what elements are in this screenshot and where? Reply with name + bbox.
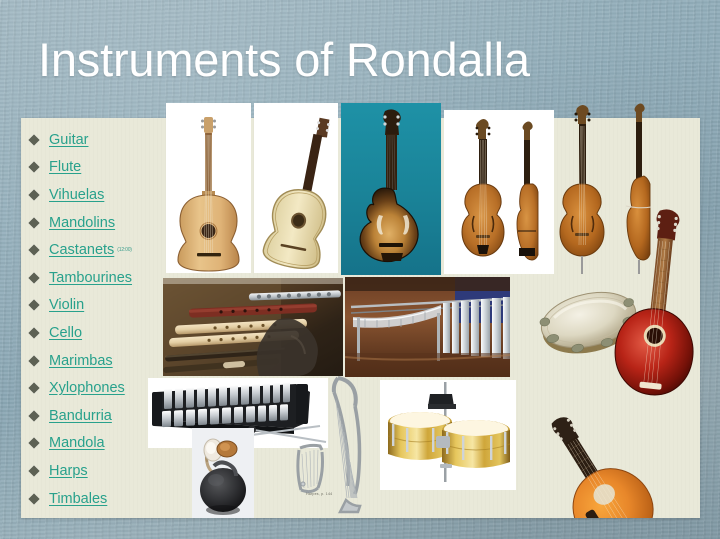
harp-image-caption: Harpes, p. 144 bbox=[306, 492, 332, 496]
list-item[interactable]: Violin bbox=[21, 292, 173, 320]
image-classical-guitar bbox=[166, 103, 251, 273]
instrument-link[interactable]: Marimbas bbox=[49, 353, 113, 369]
instrument-link[interactable]: Harps bbox=[49, 463, 88, 479]
instrument-link[interactable]: Flute bbox=[49, 159, 81, 175]
diamond-bullet-icon bbox=[28, 438, 39, 449]
list-item[interactable]: Guitar bbox=[21, 126, 173, 154]
list-item[interactable]: Mandolins bbox=[21, 209, 173, 237]
diamond-bullet-icon bbox=[28, 355, 39, 366]
diamond-bullet-icon bbox=[28, 465, 39, 476]
instrument-list: GuitarFluteVihuelasMandolinsCastanets(12… bbox=[21, 126, 173, 516]
diamond-bullet-icon bbox=[28, 217, 39, 228]
instrument-link[interactable]: Tambourines bbox=[49, 270, 132, 286]
list-item[interactable]: Marimbas bbox=[21, 347, 173, 375]
image-vihuela bbox=[254, 103, 338, 273]
instrument-link[interactable]: Xylophones bbox=[49, 380, 125, 396]
image-flutes-recorders bbox=[163, 278, 343, 376]
diamond-bullet-icon bbox=[28, 162, 39, 173]
list-item[interactable]: Mandola bbox=[21, 430, 173, 458]
list-item[interactable]: Cello bbox=[21, 319, 173, 347]
diamond-bullet-icon bbox=[28, 410, 39, 421]
diamond-bullet-icon bbox=[28, 300, 39, 311]
image-bandurria bbox=[610, 205, 706, 405]
list-item[interactable]: Castanets(12:00) bbox=[21, 236, 173, 264]
diamond-bullet-icon bbox=[28, 382, 39, 393]
instrument-note: (12:00) bbox=[117, 247, 131, 253]
image-violin bbox=[444, 110, 554, 274]
instrument-link[interactable]: Cello bbox=[49, 325, 82, 341]
diamond-bullet-icon bbox=[28, 245, 39, 256]
presentation-slide: Instruments of Rondalla bbox=[0, 0, 720, 539]
list-item[interactable]: Bandurria bbox=[21, 402, 173, 430]
list-item[interactable]: Timbales bbox=[21, 485, 173, 513]
instrument-link[interactable]: Timbales bbox=[49, 491, 107, 507]
diamond-bullet-icon bbox=[28, 189, 39, 200]
instrument-link[interactable]: Guitar bbox=[49, 132, 89, 148]
page-title: Instruments of Rondalla bbox=[38, 36, 530, 83]
instrument-link[interactable]: Bandurria bbox=[49, 408, 112, 424]
instrument-link[interactable]: Mandolins bbox=[49, 215, 115, 231]
instrument-link[interactable]: Vihuelas bbox=[49, 187, 104, 203]
instrument-link[interactable]: Violin bbox=[49, 297, 84, 313]
image-mandolin bbox=[341, 103, 441, 275]
list-item[interactable]: Vihuelas bbox=[21, 181, 173, 209]
image-mandola bbox=[515, 408, 665, 518]
diamond-bullet-icon bbox=[28, 493, 39, 504]
image-marimba bbox=[345, 277, 510, 377]
image-castanets bbox=[192, 428, 254, 518]
list-item[interactable]: Flute bbox=[21, 154, 173, 182]
list-item[interactable]: Harps bbox=[21, 457, 173, 485]
diamond-bullet-icon bbox=[28, 327, 39, 338]
diamond-bullet-icon bbox=[28, 134, 39, 145]
list-item[interactable]: Tambourines bbox=[21, 264, 173, 292]
diamond-bullet-icon bbox=[28, 272, 39, 283]
instrument-link[interactable]: Mandola bbox=[49, 435, 105, 451]
image-timbales bbox=[380, 380, 516, 490]
list-item[interactable]: Xylophones bbox=[21, 374, 173, 402]
instrument-link[interactable]: Castanets bbox=[49, 242, 114, 258]
